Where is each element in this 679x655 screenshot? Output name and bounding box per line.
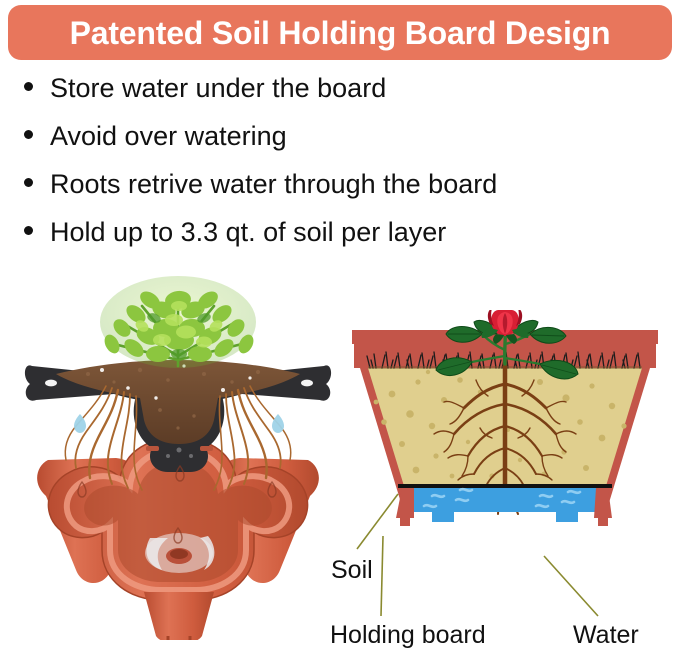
list-item-label: Hold up to 3.3 qt. of soil per layer	[50, 216, 446, 248]
list-item: Avoid over watering	[24, 120, 664, 168]
list-item: Store water under the board	[24, 72, 664, 120]
stackable-planter-product-photo	[18, 270, 338, 640]
list-item-label: Store water under the board	[50, 72, 386, 104]
plant-foliage	[100, 276, 256, 368]
bullet-dot-icon	[24, 82, 33, 91]
callout-label-holding-board: Holding board	[330, 621, 486, 649]
list-item-label: Roots retrive water through the board	[50, 168, 497, 200]
bullet-dot-icon	[24, 226, 33, 235]
bullet-dot-icon	[24, 130, 33, 139]
callout-label-water: Water	[573, 621, 639, 649]
figures-area	[0, 265, 679, 655]
callout-label-soil: Soil	[331, 556, 373, 584]
feature-bullet-list: Store water under the board Avoid over w…	[24, 72, 664, 264]
planter-cross-section-diagram	[340, 310, 670, 560]
header-banner: Patented Soil Holding Board Design	[8, 5, 672, 60]
soil-puck	[56, 360, 300, 444]
list-item: Hold up to 3.3 qt. of soil per layer	[24, 216, 664, 264]
page-title: Patented Soil Holding Board Design	[70, 17, 611, 49]
water-reservoir	[414, 488, 596, 522]
bullet-dot-icon	[24, 178, 33, 187]
list-item-label: Avoid over watering	[50, 120, 287, 152]
holding-board-line	[398, 484, 612, 488]
list-item: Roots retrive water through the board	[24, 168, 664, 216]
planter-front-leg	[144, 592, 214, 640]
